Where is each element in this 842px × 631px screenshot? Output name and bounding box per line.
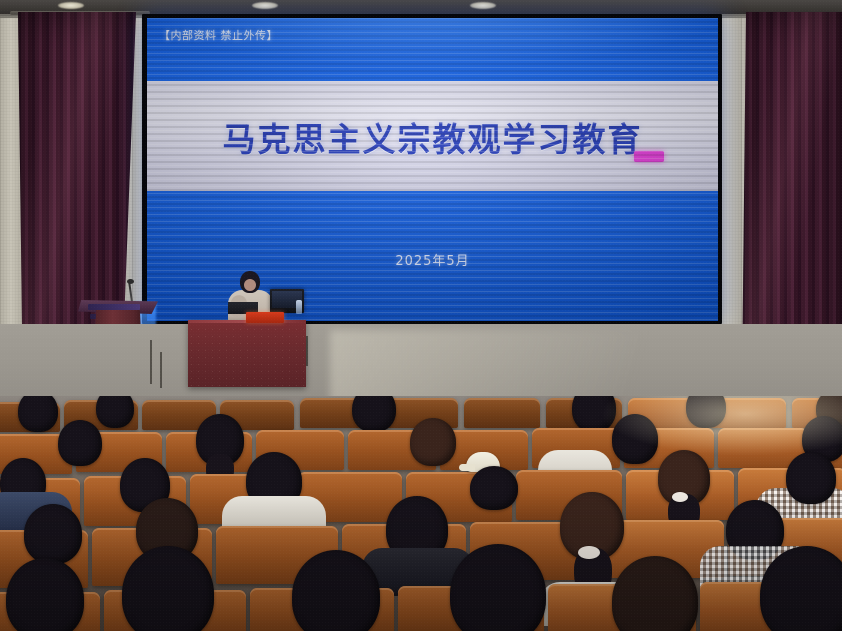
audience-head bbox=[18, 396, 58, 432]
audience-head bbox=[122, 546, 214, 631]
lectern-plaque bbox=[88, 304, 140, 310]
slide-date: 2025年5月 bbox=[147, 250, 718, 269]
redaction-mark bbox=[634, 151, 664, 162]
water-bottle bbox=[296, 300, 302, 314]
ceiling-light-icon bbox=[252, 2, 278, 9]
seat[interactable] bbox=[464, 398, 540, 428]
hair-tie bbox=[672, 492, 688, 502]
screen-glow bbox=[147, 18, 718, 68]
confidential-notice: 【内部资料 禁止外传】 bbox=[159, 27, 278, 43]
table-fabric-texture bbox=[188, 326, 306, 387]
seated-audience bbox=[0, 396, 842, 631]
ceiling-light-icon bbox=[58, 2, 84, 9]
hair-tie bbox=[578, 546, 600, 559]
microphone-icon bbox=[127, 279, 134, 284]
audience-head bbox=[352, 396, 396, 432]
audience-head bbox=[6, 558, 84, 631]
head-table bbox=[188, 320, 306, 387]
audience-head bbox=[470, 466, 518, 510]
audience-head bbox=[572, 396, 616, 432]
name-plate bbox=[246, 312, 284, 323]
slide-title: 马克思主义宗教观学习教育 bbox=[147, 113, 718, 161]
audience-head bbox=[612, 414, 658, 464]
audience-head bbox=[96, 396, 134, 428]
audience-head bbox=[786, 452, 836, 504]
floor-cable bbox=[306, 336, 334, 366]
audience-head bbox=[410, 418, 456, 466]
audience-head bbox=[24, 504, 82, 564]
audience-head bbox=[686, 396, 726, 428]
ceiling-light-icon bbox=[470, 2, 496, 9]
speaker-face bbox=[244, 279, 256, 291]
audience-head bbox=[58, 420, 102, 466]
photograph-canvas: 【内部资料 禁止外传】 马克思主义宗教观学习教育 2025年5月 bbox=[0, 0, 842, 631]
